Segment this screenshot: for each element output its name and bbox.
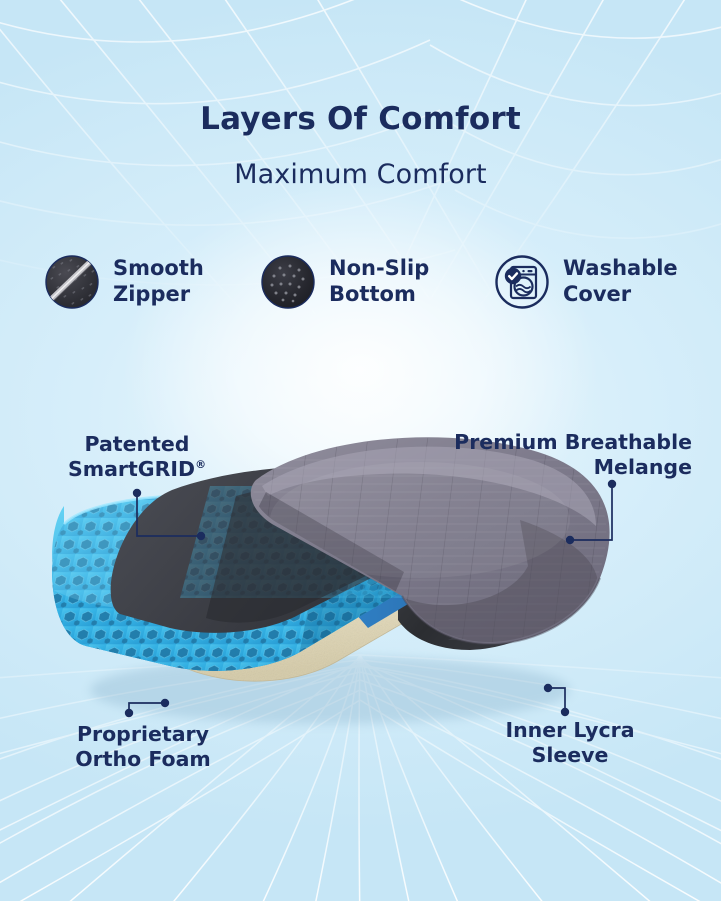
callout-ortho-foam: Proprietary Ortho Foam [40,722,246,773]
leader-dot-lycra-target [544,684,552,692]
leader-dot-foam-target [161,699,169,707]
leader-dot-smartgrid-target [197,532,205,540]
callout-smartgrid: Patented SmartGRID® [42,432,232,483]
leader-dot-foam-label [125,709,133,717]
callout-smartgrid-text: Patented SmartGRID [68,432,195,481]
leader-dot-melange-target [566,536,574,544]
registered-trademark-mark: ® [195,459,206,472]
callout-lycra-sleeve: Inner Lycra Sleeve [480,718,660,769]
callout-melange: Premium Breathable Melange [420,430,692,481]
leader-dot-lycra-label [561,708,569,716]
leader-dot-melange-label [608,480,616,488]
leader-dot-smartgrid-label [133,489,141,497]
infographic-canvas: Layers Of Comfort Maximum Comfort [0,0,721,901]
